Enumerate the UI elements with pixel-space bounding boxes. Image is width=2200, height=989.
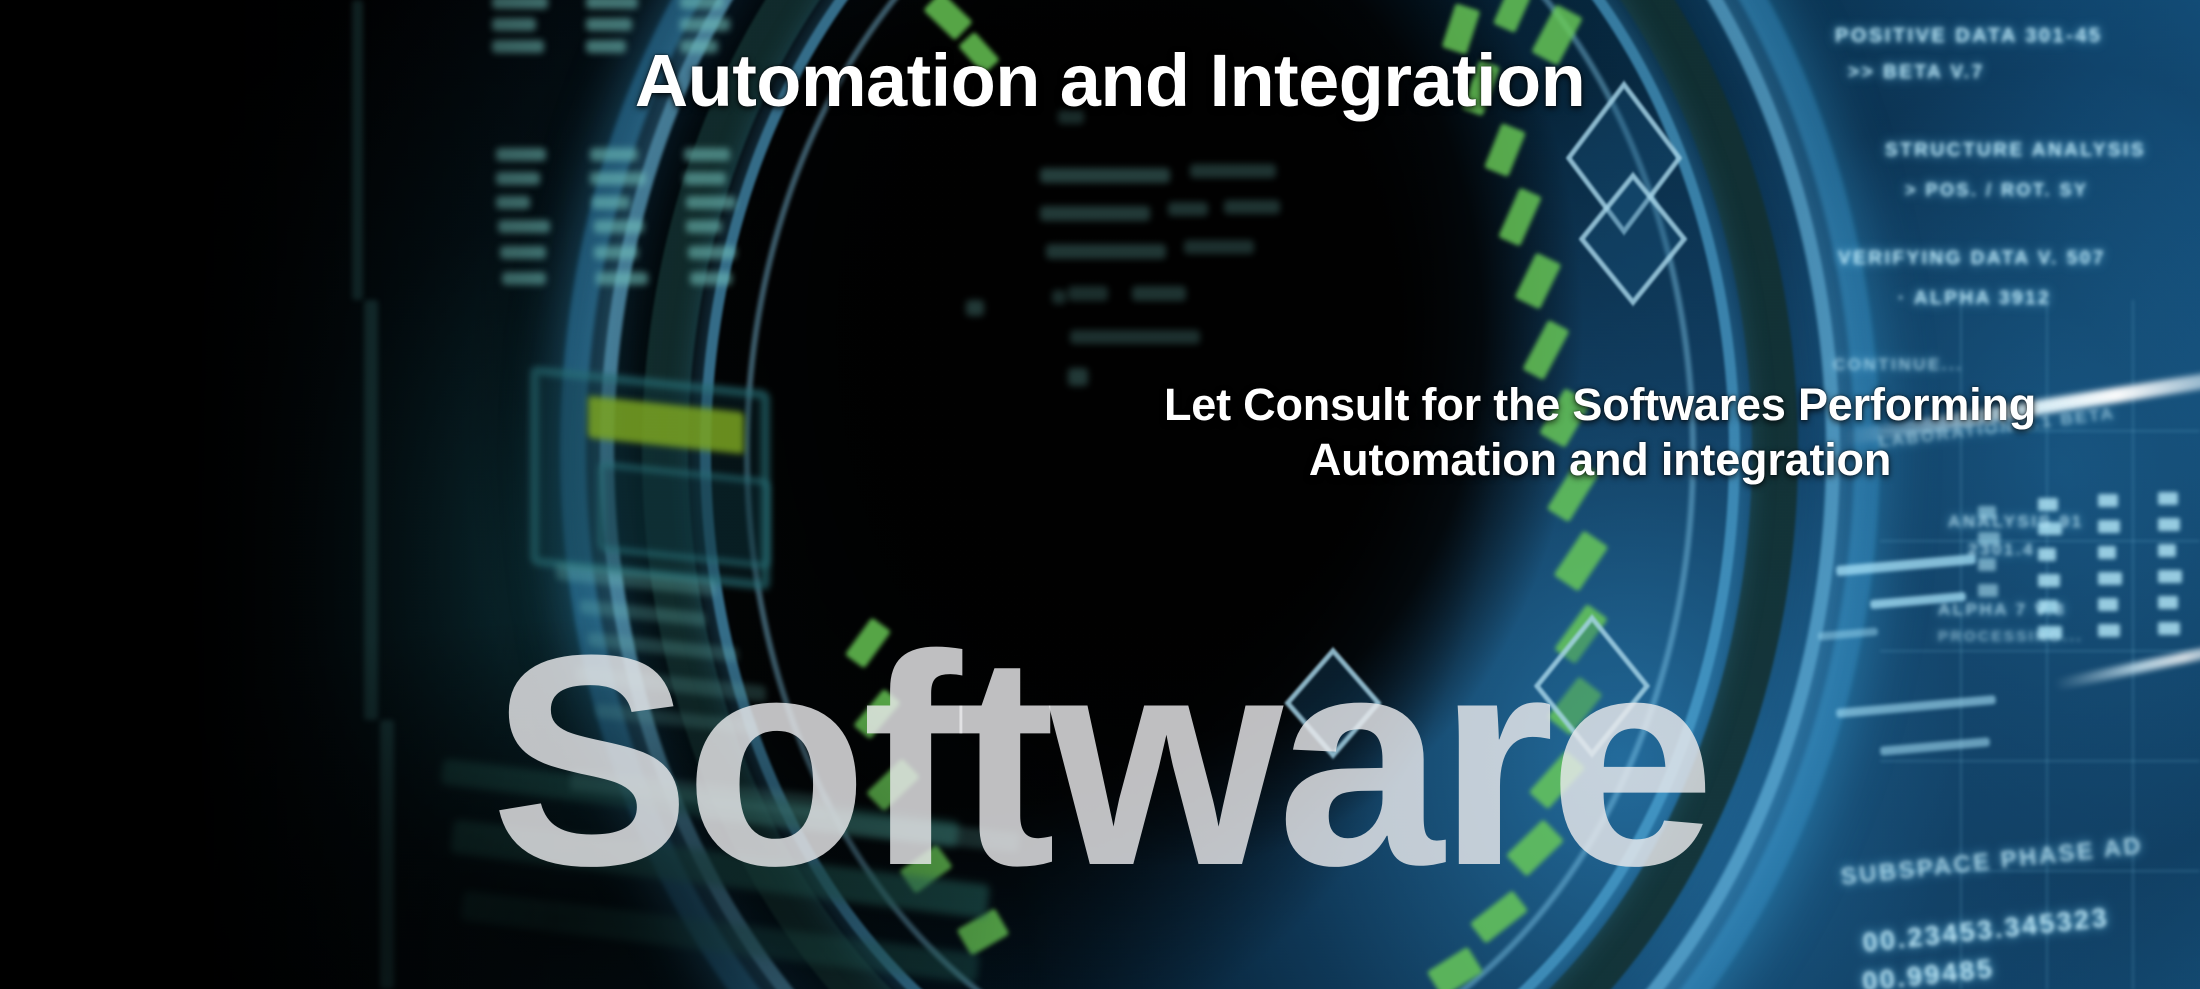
hero-text-layer: Automation and Integration Let Consult f… <box>0 0 2200 989</box>
hero-headline: Automation and Integration <box>610 38 1610 124</box>
hero-watermark-software: Software <box>0 610 2200 910</box>
hero-banner: POSITIVE DATA 301-45 >> BETA V.7 STRUCTU… <box>0 0 2200 989</box>
hero-subtitle: Let Consult for the Softwares Performing… <box>1090 378 2110 488</box>
